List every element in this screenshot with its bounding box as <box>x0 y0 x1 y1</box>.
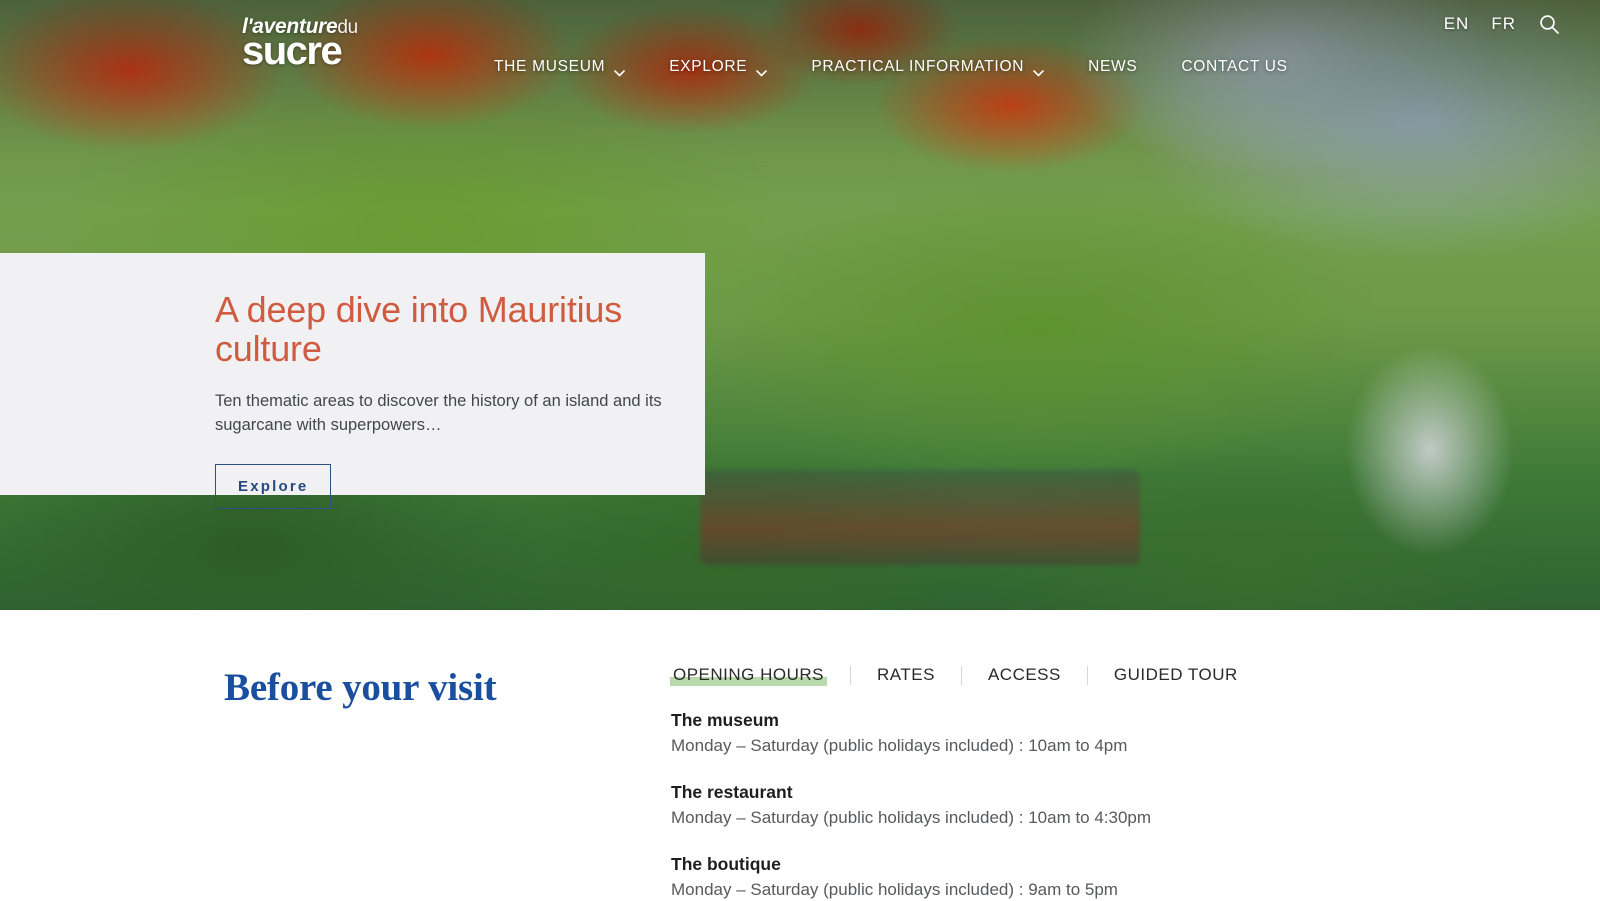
hours-entry-boutique: The boutique Monday – Saturday (public h… <box>671 854 1431 901</box>
nav-label-news: NEWS <box>1088 58 1137 76</box>
explore-button[interactable]: Explore <box>215 464 331 509</box>
hours-entry-title: The boutique <box>671 854 1431 875</box>
visit-tabs: OPENING HOURS RATES ACCESS GUIDED TOUR <box>671 665 1240 685</box>
search-icon[interactable] <box>1538 13 1560 35</box>
nav-item-the-museum[interactable]: THE MUSEUM <box>494 58 625 76</box>
chevron-down-icon <box>1033 64 1044 71</box>
nav-item-news[interactable]: NEWS <box>1088 58 1137 76</box>
nav-label-the-museum: THE MUSEUM <box>494 58 605 76</box>
logo-text-du: du <box>337 17 358 38</box>
tab-access[interactable]: ACCESS <box>986 665 1063 685</box>
language-and-search-group: EN FR <box>1444 13 1600 35</box>
nav-item-practical-information[interactable]: PRACTICAL INFORMATION <box>811 58 1044 76</box>
nav-item-explore[interactable]: EXPLORE <box>669 58 767 76</box>
hours-entry-title: The museum <box>671 710 1431 731</box>
chevron-down-icon <box>614 64 625 71</box>
language-switch-en[interactable]: EN <box>1444 14 1470 34</box>
primary-navigation: THE MUSEUM EXPLORE PRACTICAL INFORMATION… <box>494 58 1288 76</box>
tab-separator <box>850 666 851 685</box>
tab-opening-hours[interactable]: OPENING HOURS <box>671 665 826 685</box>
hours-entry-text: Monday – Saturday (public holidays inclu… <box>671 734 1431 758</box>
opening-hours-panel: The museum Monday – Saturday (public hol… <box>671 710 1431 901</box>
nav-label-explore: EXPLORE <box>669 58 747 76</box>
nav-label-practical-information: PRACTICAL INFORMATION <box>811 58 1024 76</box>
hours-entry-restaurant: The restaurant Monday – Saturday (public… <box>671 782 1431 830</box>
hero-banner: l'aventuredu sucre EN FR THE MUSEUM <box>0 0 1600 610</box>
nav-item-contact-us[interactable]: CONTACT US <box>1181 58 1287 76</box>
section-title-before-your-visit: Before your visit <box>224 665 496 710</box>
tab-guided-tour[interactable]: GUIDED TOUR <box>1112 665 1240 685</box>
language-switch-fr[interactable]: FR <box>1491 14 1516 34</box>
tab-separator <box>1087 666 1088 685</box>
tab-separator <box>961 666 962 685</box>
chevron-down-icon <box>756 64 767 71</box>
tab-rates[interactable]: RATES <box>875 665 937 685</box>
hero-content-card: A deep dive into Mauritius culture Ten t… <box>0 253 705 495</box>
site-header: l'aventuredu sucre EN FR THE MUSEUM <box>0 0 1600 96</box>
hours-entry-museum: The museum Monday – Saturday (public hol… <box>671 710 1431 758</box>
site-logo[interactable]: l'aventuredu sucre <box>242 16 358 71</box>
nav-label-contact-us: CONTACT US <box>1181 58 1287 76</box>
hero-subtitle: Ten thematic areas to discover the histo… <box>215 390 665 438</box>
hours-entry-text: Monday – Saturday (public holidays inclu… <box>671 806 1431 830</box>
hero-title: A deep dive into Mauritius culture <box>215 291 665 368</box>
before-your-visit-section: Before your visit OPENING HOURS RATES AC… <box>0 610 1600 900</box>
hours-entry-text: Monday – Saturday (public holidays inclu… <box>671 878 1431 901</box>
hours-entry-title: The restaurant <box>671 782 1431 803</box>
